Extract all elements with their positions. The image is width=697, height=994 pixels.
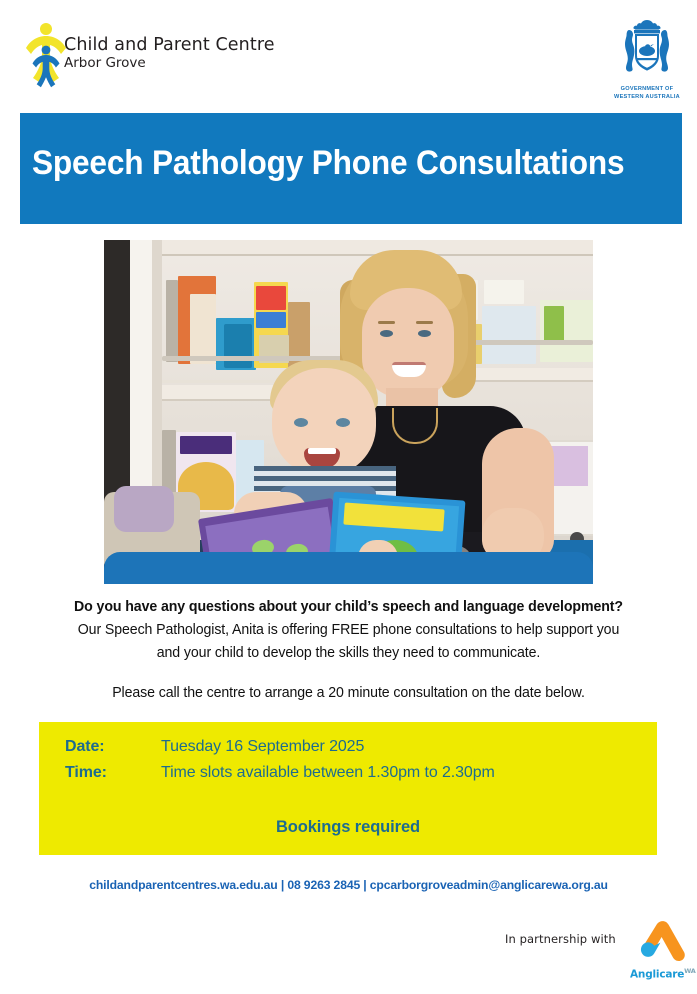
- event-details-box: Date: Tuesday 16 September 2025 Time: Ti…: [39, 722, 657, 855]
- org-name-block: Child and Parent Centre Arbor Grove: [64, 36, 275, 72]
- date-label: Date:: [65, 738, 161, 756]
- gov-crest-label: GOVERNMENT OF WESTERN AUSTRALIA: [612, 86, 682, 101]
- page-title: Speech Pathology Phone Consultations: [32, 144, 624, 183]
- detail-row-time: Time: Time slots available between 1.30p…: [65, 764, 495, 782]
- body-call-to-action: Please call the centre to arrange a 20 m…: [10, 682, 686, 705]
- body-copy: Do you have any questions about your chi…: [0, 596, 697, 705]
- anglicare-suffix: WA: [684, 967, 696, 975]
- body-paragraph-line-1: Our Speech Pathologist, Anita is offerin…: [10, 619, 686, 642]
- bookings-required-note: Bookings required: [39, 818, 657, 837]
- title-banner: Speech Pathology Phone Consultations: [20, 113, 682, 224]
- gov-crest-label-line2: WESTERN AUSTRALIA: [612, 94, 682, 102]
- org-name: Child and Parent Centre: [64, 36, 275, 54]
- org-location: Arbor Grove: [64, 55, 275, 72]
- time-label: Time:: [65, 764, 161, 782]
- anglicare-name: Anglicare: [630, 969, 684, 981]
- partnership-label: In partnership with: [505, 932, 616, 946]
- time-value: Time slots available between 1.30pm to 2…: [161, 764, 495, 782]
- detail-row-date: Date: Tuesday 16 September 2025: [65, 738, 364, 756]
- body-heading: Do you have any questions about your chi…: [10, 596, 686, 619]
- hero-photo: [104, 240, 593, 584]
- page-header: Child and Parent Centre Arbor Grove: [0, 0, 697, 110]
- body-paragraph-line-2: and your child to develop the skills the…: [10, 642, 686, 665]
- anglicare-wordmark: AnglicareWA: [630, 967, 690, 981]
- anglicare-wa-logo-icon: AnglicareWA: [630, 920, 690, 986]
- flyer-page: Child and Parent Centre Arbor Grove: [0, 0, 697, 994]
- contact-line[interactable]: childandparentcentres.wa.edu.au | 08 926…: [0, 878, 697, 892]
- gov-crest-label-line1: GOVERNMENT OF: [612, 86, 682, 94]
- wa-government-crest-icon: GOVERNMENT OF WESTERN AUSTRALIA: [612, 18, 682, 98]
- date-value: Tuesday 16 September 2025: [161, 738, 364, 756]
